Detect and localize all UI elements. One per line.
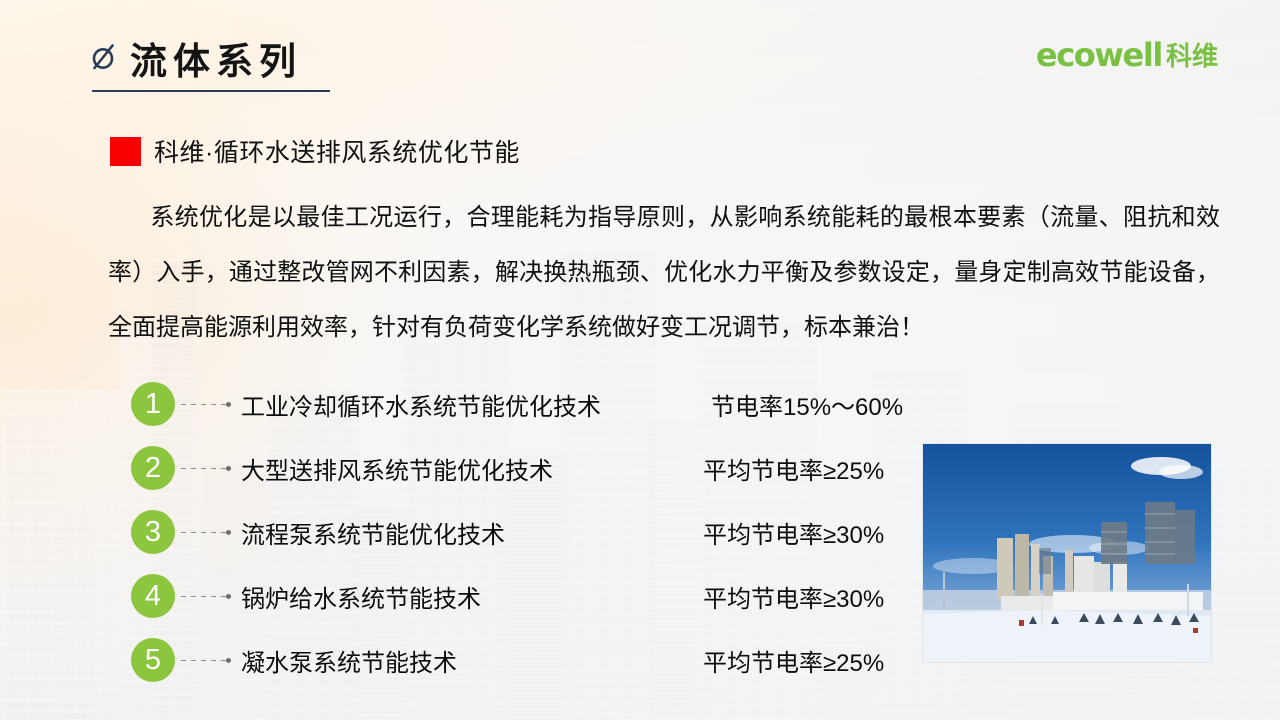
list-item-rate: 平均节电率≥25% (703, 451, 884, 486)
list-item-title: 凝水泵系统节能技术 (241, 643, 641, 678)
list-item: 1 工业冷却循环水系统节能优化技术 节电率15%～60% (131, 372, 903, 436)
slide: 流体系列 ecowell 科维 科维·循环水送排风系统优化节能 系统优化是以最佳… (0, 0, 1280, 720)
list-item-title: 锅炉给水系统节能技术 (241, 579, 641, 614)
ecowell-logo: ecowell 科维 (1036, 39, 1218, 71)
list-item-title: 大型送排风系统节能优化技术 (241, 451, 641, 486)
list-number-badge: 5 (131, 638, 175, 682)
list-item: 4 锅炉给水系统节能技术 平均节电率≥30% (131, 564, 903, 628)
list-item: 3 流程泵系统节能优化技术 平均节电率≥30% (131, 500, 903, 564)
connector-dashed-line (181, 404, 229, 405)
connector-dashed-line (181, 532, 229, 533)
connector-dashed-line (181, 596, 229, 597)
paragraph-text: 系统优化是以最佳工况运行，合理能耗为指导原则，从影响系统能耗的最根本要素（流量、… (108, 204, 1220, 341)
list-number-badge: 2 (131, 446, 175, 490)
list-number-badge: 4 (131, 574, 175, 618)
petrochemical-plant-photo (923, 444, 1211, 662)
page-title: 流体系列 (130, 31, 302, 85)
list-item-rate: 平均节电率≥30% (703, 515, 884, 550)
list-item-rate: 节电率15%～60% (711, 387, 903, 422)
logo-text-en: ecowell (1036, 39, 1162, 71)
diameter-circle-slash-icon (90, 41, 116, 71)
section-subtitle-text: 科维·循环水送排风系统优化节能 (154, 133, 520, 169)
body-paragraph: 系统优化是以最佳工况运行，合理能耗为指导原则，从影响系统能耗的最根本要素（流量、… (108, 190, 1220, 355)
title-underline (92, 90, 330, 92)
red-square-bullet-icon (110, 137, 141, 166)
connector-dashed-line (181, 468, 229, 469)
connector-dashed-line (181, 660, 229, 661)
list-item-rate: 平均节电率≥25% (703, 643, 884, 678)
list-item-title: 流程泵系统节能优化技术 (241, 515, 641, 550)
technology-list: 1 工业冷却循环水系统节能优化技术 节电率15%～60% 2 大型送排风系统节能… (131, 372, 903, 692)
list-item-rate: 平均节电率≥30% (703, 579, 884, 614)
list-number-badge: 3 (131, 510, 175, 554)
list-item-title: 工业冷却循环水系统节能优化技术 (241, 387, 641, 422)
logo-text-cn: 科维 (1166, 43, 1218, 69)
list-item: 2 大型送排风系统节能优化技术 平均节电率≥25% (131, 436, 903, 500)
section-subtitle: 科维·循环水送排风系统优化节能 (110, 133, 520, 169)
list-item: 5 凝水泵系统节能技术 平均节电率≥25% (131, 628, 903, 692)
list-number-badge: 1 (131, 382, 175, 426)
